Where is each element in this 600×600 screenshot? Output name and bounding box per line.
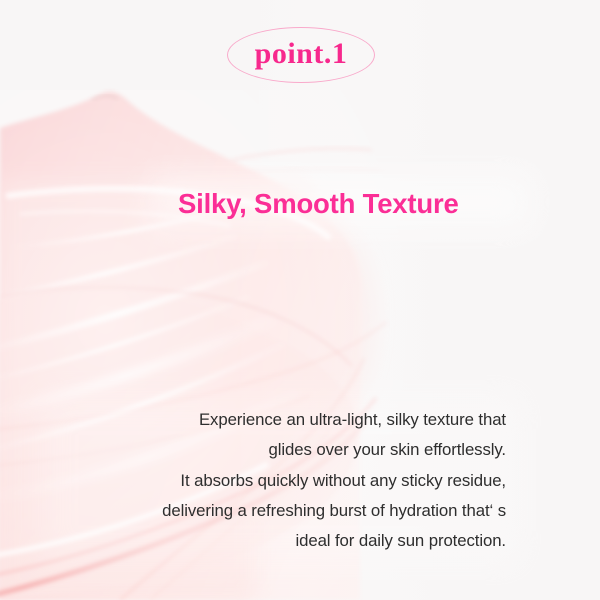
point-badge-label: point.1: [255, 39, 348, 69]
body-line: ideal for daily sun protection.: [60, 526, 506, 556]
body-line: Experience an ultra-light, silky texture…: [60, 405, 506, 435]
promo-card: point.1 Silky, Smooth Texture Experience…: [0, 0, 600, 600]
body-line: It absorbs quickly without any sticky re…: [60, 466, 506, 496]
point-badge: point.1: [227, 27, 375, 83]
page-title: Silky, Smooth Texture: [178, 188, 459, 220]
body-line: delivering a refreshing burst of hydrati…: [60, 496, 506, 526]
body-line: glides over your skin effortlessly.: [60, 435, 506, 465]
body-copy: Experience an ultra-light, silky texture…: [60, 405, 506, 556]
